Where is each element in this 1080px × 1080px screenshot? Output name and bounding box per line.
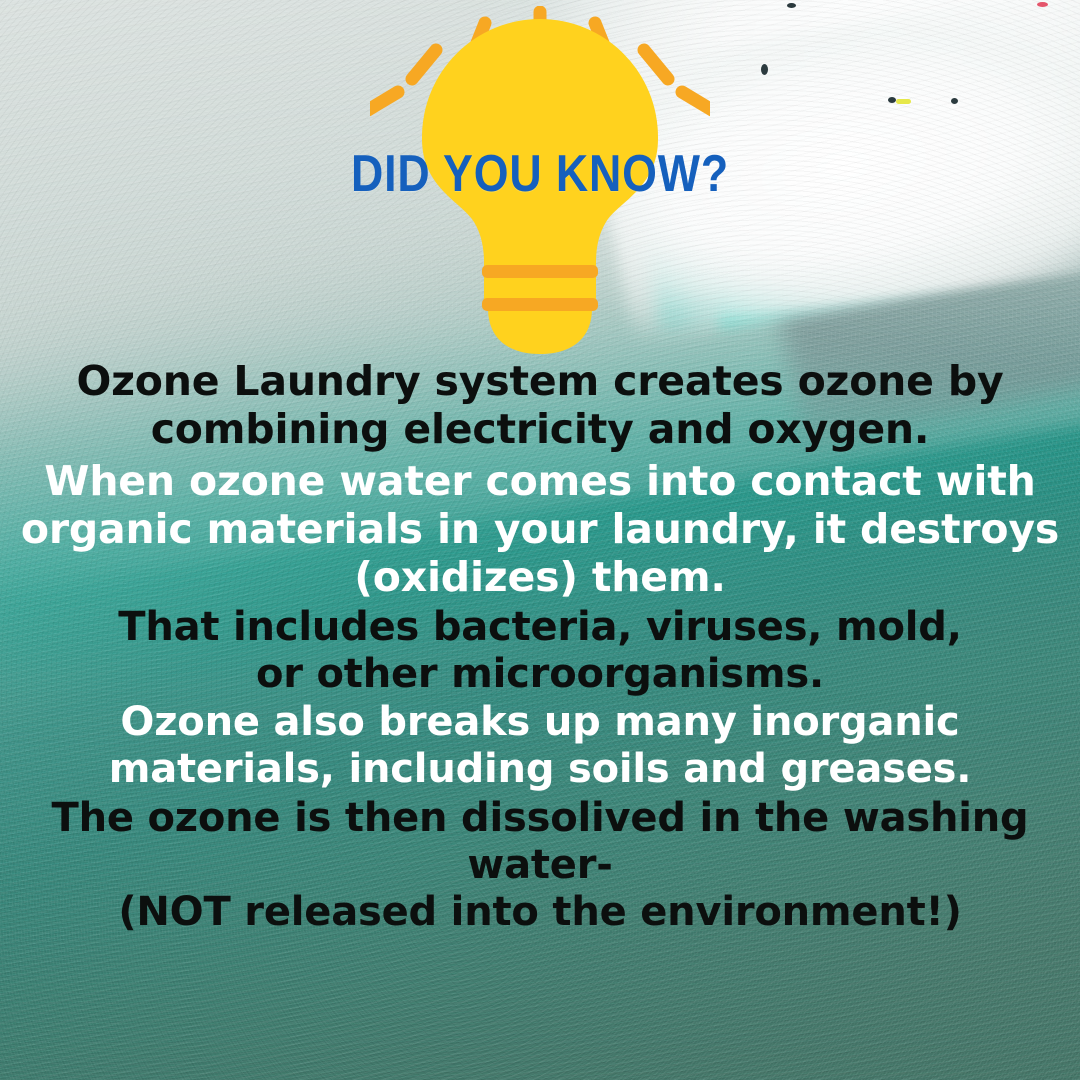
paragraph-3-line-2: or other microorganisms. (256, 651, 824, 697)
paragraph-2: When ozone water comes into contact with… (14, 458, 1066, 602)
surfer-dot (951, 98, 958, 104)
surfer-dot (1037, 2, 1048, 7)
paragraph-1-line-1: Ozone Laundry system creates ozone by (76, 357, 1003, 405)
page-title: DID YOU KNOW? (76, 144, 1005, 204)
paragraph-3: That includes bacteria, viruses, mold, o… (14, 604, 1066, 698)
paragraph-2-line-2: organic materials in your laundry, it de… (21, 505, 1059, 553)
paragraph-5-line-1: The ozone is then dissolived in the wash… (51, 795, 1028, 888)
surfer-dot (888, 97, 896, 103)
poster-canvas: DID YOU KNOW? Ozone Laundry system creat… (0, 0, 1080, 1080)
paragraph-5: The ozone is then dissolived in the wash… (14, 795, 1066, 935)
paragraph-2-line-3: (oxidizes) them. (354, 553, 726, 601)
paragraph-5-line-2: (NOT released into the environment!) (118, 889, 961, 935)
paragraph-4-line-2: materials, including soils and greases. (109, 746, 972, 792)
paragraph-4-line-1: Ozone also breaks up many inorganic (120, 699, 959, 745)
paragraph-1: Ozone Laundry system creates ozone by co… (14, 358, 1066, 454)
surfer-dot (761, 64, 768, 75)
paragraph-1-line-2: combining electricity and oxygen. (151, 405, 930, 453)
surfer-dot (787, 3, 796, 8)
body-copy: Ozone Laundry system creates ozone by co… (0, 358, 1080, 935)
paragraph-2-line-1: When ozone water comes into contact with (44, 457, 1035, 505)
paragraph-4: Ozone also breaks up many inorganic mate… (14, 699, 1066, 793)
paragraph-3-line-1: That includes bacteria, viruses, mold, (118, 604, 961, 650)
surfboard-dot (896, 99, 911, 104)
